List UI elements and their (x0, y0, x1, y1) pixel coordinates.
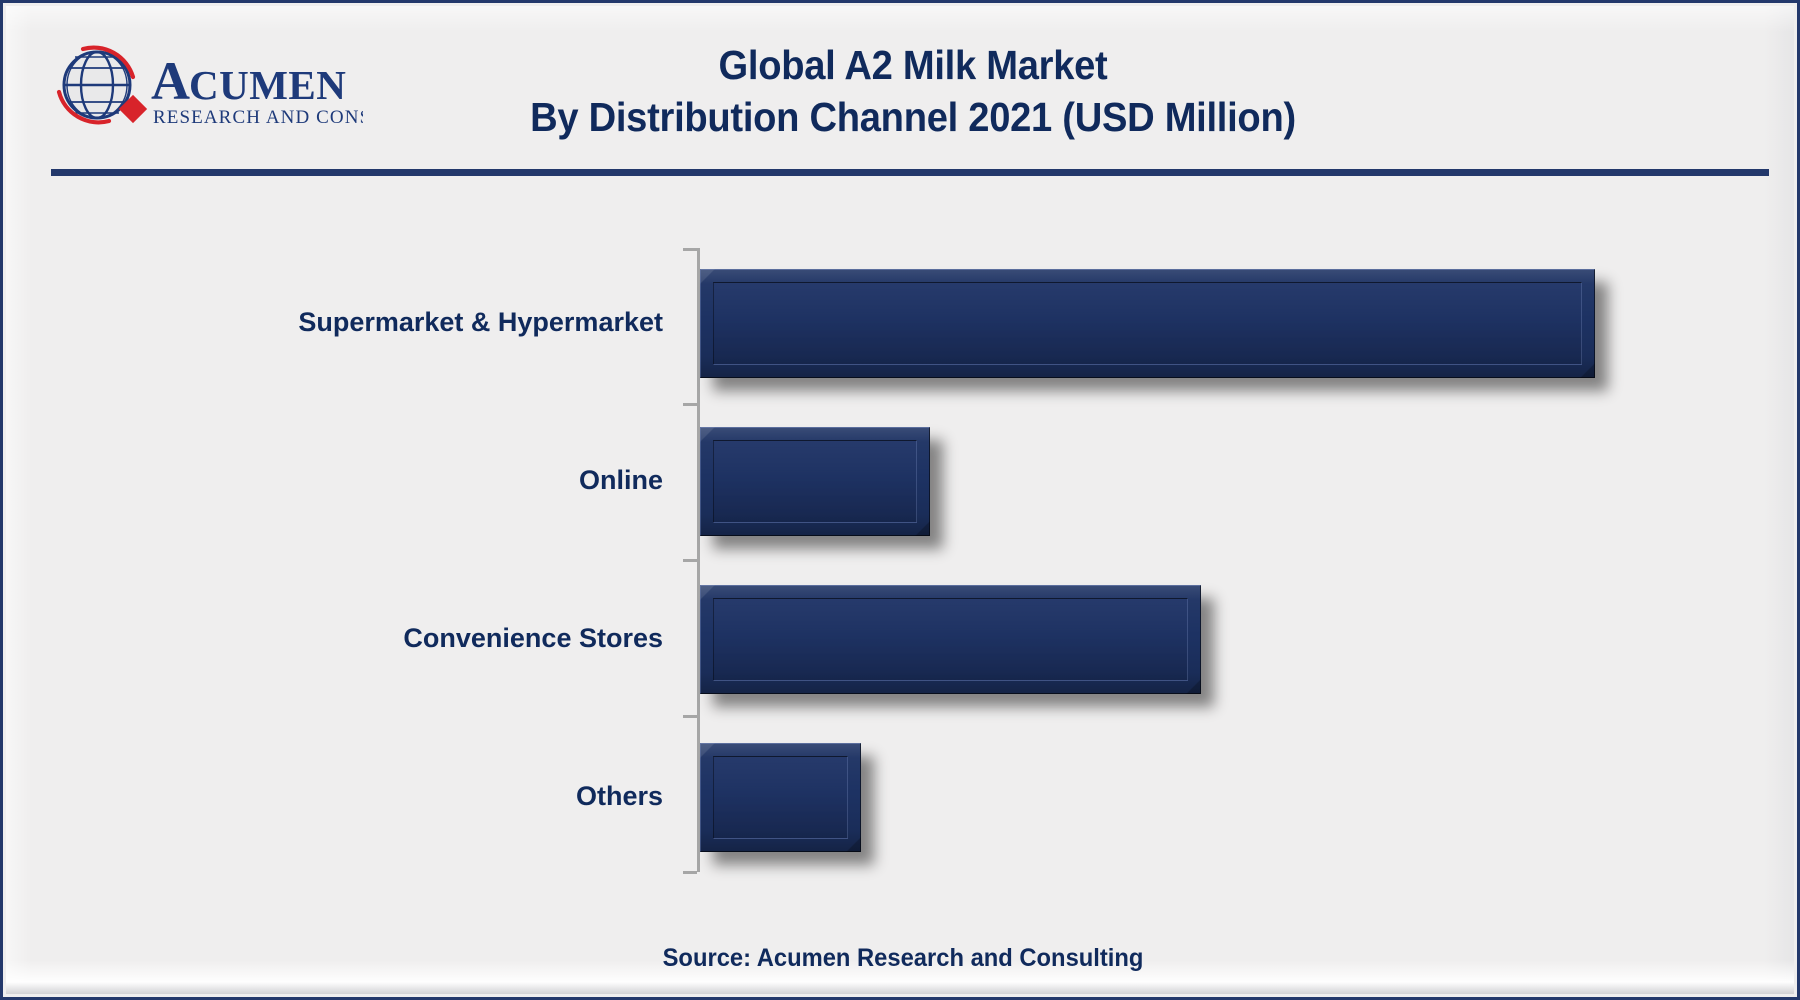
bevel-edges (700, 269, 1595, 378)
bar-category-label: Convenience Stores (43, 623, 663, 654)
axis-tick (683, 403, 697, 406)
bevel-edges (700, 427, 930, 536)
bevel-edges (700, 743, 861, 852)
bar-category-label: Supermarket & Hypermarket (43, 307, 663, 338)
bar (700, 585, 1201, 694)
bar-category-label: Others (43, 781, 663, 812)
bevel-edges (700, 585, 1201, 694)
bar-category-label: Online (43, 465, 663, 496)
source-note: Source: Acumen Research and Consulting (48, 944, 1758, 973)
bar-row: Convenience Stores (3, 585, 1800, 694)
bar (700, 743, 861, 852)
axis-tick (683, 715, 697, 718)
chart-slide: A CUMEN RESEARCH AND CONSULTING Global A… (0, 0, 1800, 1000)
bar-chart: Supermarket & HypermarketOnlineConvenien… (3, 3, 1800, 1000)
axis-tick (683, 871, 697, 874)
bar-row: Others (3, 743, 1800, 852)
bar (700, 269, 1595, 378)
axis-tick (683, 559, 697, 562)
bar (700, 427, 930, 536)
bar-row: Online (3, 427, 1800, 536)
axis-tick (683, 248, 697, 251)
bar-row: Supermarket & Hypermarket (3, 269, 1800, 378)
